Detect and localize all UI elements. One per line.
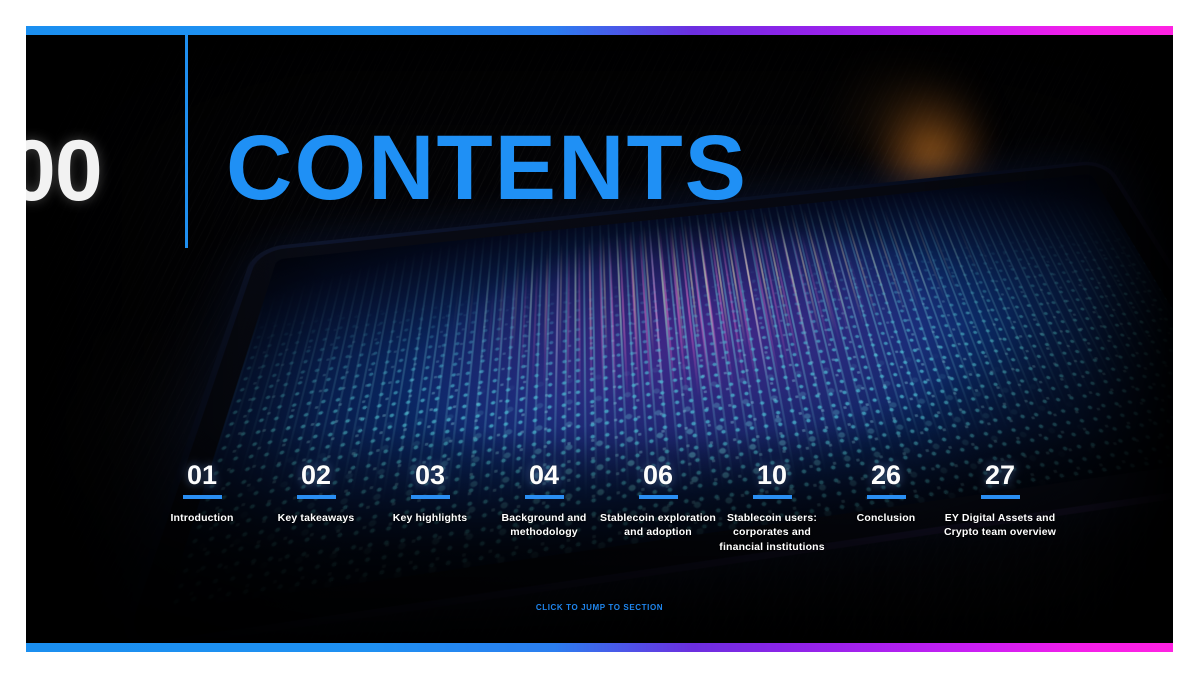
toc-number: 03 <box>415 462 445 489</box>
toc-item-01[interactable]: 01 Introduction <box>145 462 259 554</box>
table-of-contents: 01 Introduction 02 Key takeaways 03 Key … <box>26 462 1173 554</box>
toc-item-27[interactable]: 27 EY Digital Assets and Crypto team ove… <box>943 462 1057 554</box>
toc-label: EY Digital Assets and Crypto team overvi… <box>939 511 1061 540</box>
toc-label: Key takeaways <box>255 511 377 525</box>
page-title: CONTENTS <box>226 122 748 214</box>
toc-item-10[interactable]: 10 Stablecoin users: corporates and fina… <box>715 462 829 554</box>
toc-underline <box>525 495 564 499</box>
vertical-divider-line <box>185 26 188 248</box>
toc-label: Stablecoin users: corporates and financi… <box>711 511 833 554</box>
toc-number: 10 <box>757 462 787 489</box>
section-number: 00 <box>26 128 102 214</box>
toc-underline <box>297 495 336 499</box>
toc-label: Introduction <box>141 511 263 525</box>
toc-number: 26 <box>871 462 901 489</box>
contents-slide: 00 CONTENTS 01 Introduction 02 Key takea… <box>26 26 1173 652</box>
toc-underline <box>411 495 450 499</box>
toc-item-03[interactable]: 03 Key highlights <box>373 462 487 554</box>
toc-item-02[interactable]: 02 Key takeaways <box>259 462 373 554</box>
toc-number: 01 <box>187 462 217 489</box>
slide-stage: 00 CONTENTS 01 Introduction 02 Key takea… <box>0 0 1200 675</box>
toc-number: 04 <box>529 462 559 489</box>
toc-label: Background and methodology <box>483 511 605 540</box>
toc-number: 02 <box>301 462 331 489</box>
toc-underline <box>981 495 1020 499</box>
toc-item-26[interactable]: 26 Conclusion <box>829 462 943 554</box>
toc-underline <box>753 495 792 499</box>
top-gradient-bar <box>26 26 1173 35</box>
toc-label: Conclusion <box>825 511 947 525</box>
toc-number: 27 <box>985 462 1015 489</box>
toc-underline <box>639 495 678 499</box>
toc-underline <box>867 495 906 499</box>
bottom-gradient-bar <box>26 643 1173 652</box>
toc-item-04[interactable]: 04 Background and methodology <box>487 462 601 554</box>
toc-underline <box>183 495 222 499</box>
jump-to-section-hint[interactable]: CLICK TO JUMP TO SECTION <box>26 603 1173 612</box>
toc-number: 06 <box>643 462 673 489</box>
toc-label: Stablecoin exploration and adoption <box>597 511 719 540</box>
toc-label: Key highlights <box>369 511 491 525</box>
toc-item-06[interactable]: 06 Stablecoin exploration and adoption <box>601 462 715 554</box>
